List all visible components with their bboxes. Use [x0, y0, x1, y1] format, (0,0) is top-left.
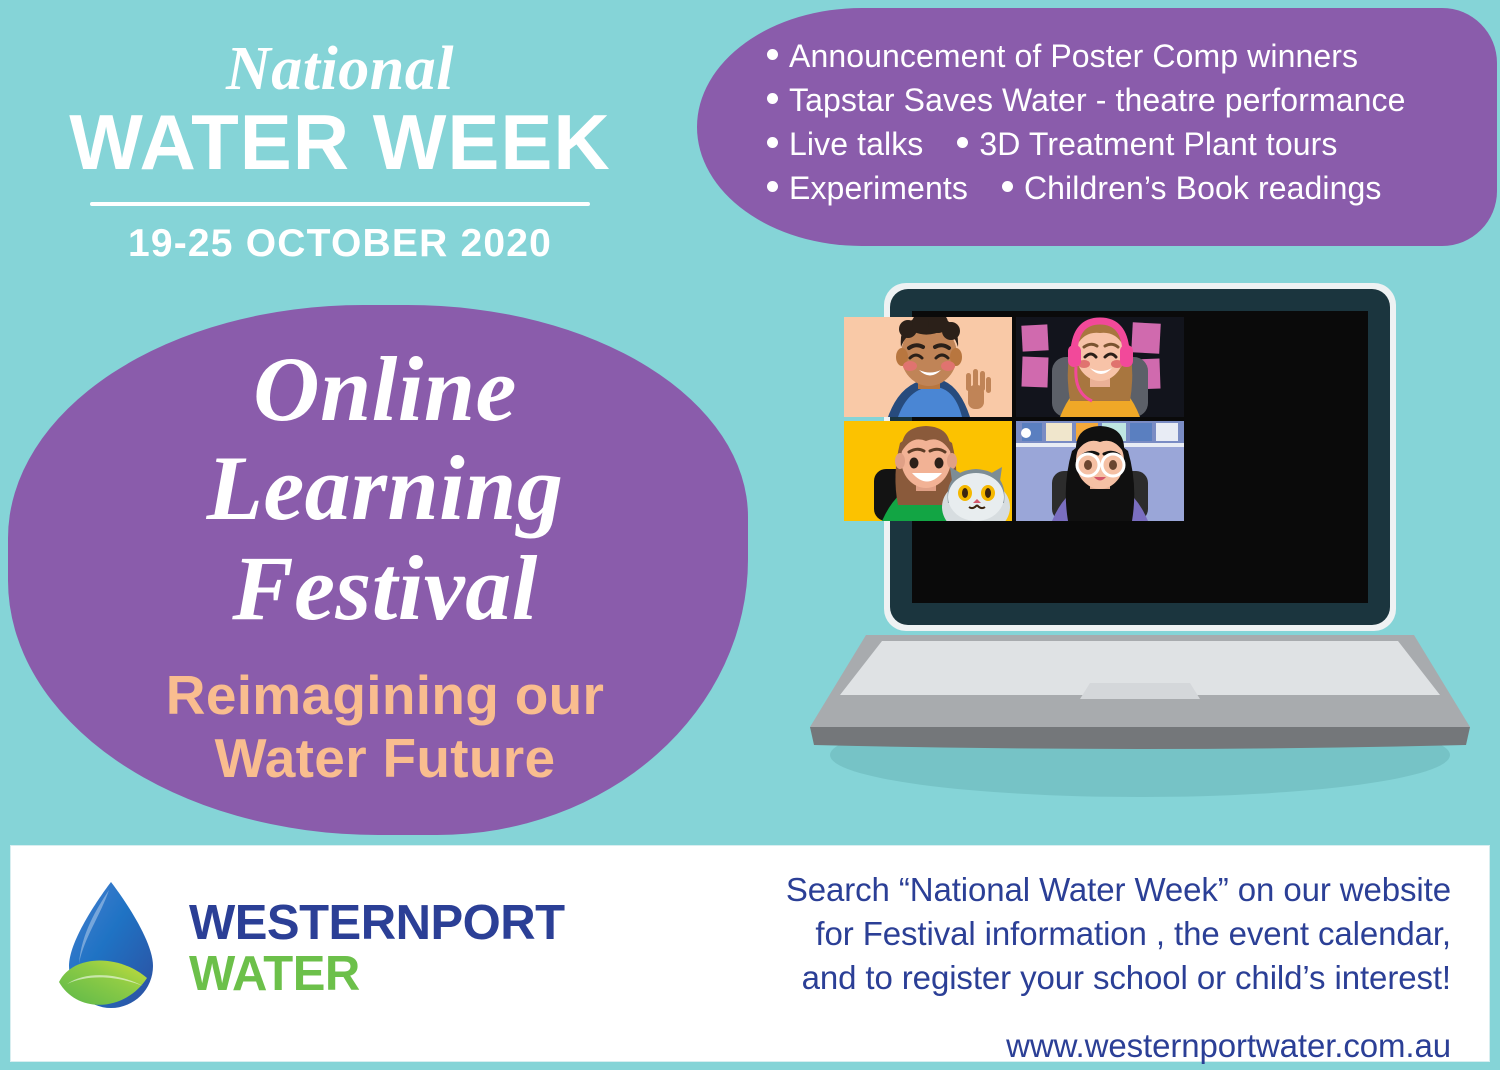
shelf-item: [1046, 423, 1072, 441]
activities-row: Tapstar Saves Water - theatre performanc…: [767, 82, 1487, 119]
headphone-cup-right: [1120, 345, 1133, 367]
activities-row: Experiments Children’s Book readings: [767, 170, 1487, 207]
festival-tagline-line-1: Reimagining our: [70, 664, 700, 727]
brand-name-secondary: WATER: [189, 950, 565, 999]
tile-divider-vertical: [1012, 311, 1016, 603]
festival-title-line-1: Online: [70, 340, 700, 439]
festival-tagline: Reimagining our Water Future: [70, 664, 700, 789]
brand-logo: WESTERNPORT WATER: [51, 874, 565, 1024]
sticky-note: [1021, 324, 1048, 351]
activities-row: Announcement of Poster Comp winners: [767, 38, 1487, 75]
activity-item: Experiments: [767, 170, 968, 207]
activities-list: Announcement of Poster Comp winners Taps…: [767, 38, 1487, 214]
bullet-dot-icon: [767, 181, 778, 192]
laptop-video-call-illustration: [790, 275, 1490, 835]
title-block: National WATER WEEK 19-25 OCTOBER 2020: [0, 10, 680, 266]
activity-item: Children’s Book readings: [1002, 170, 1382, 207]
video-tile-woman-with-cat[interactable]: [844, 421, 1012, 535]
festival-title-line-2: Learning: [70, 439, 700, 538]
footer-copy-line-1: Search “National Water Week” on our webs…: [691, 868, 1451, 912]
bullet-dot-icon: [767, 49, 778, 60]
water-droplet-leaf-icon: [51, 874, 171, 1024]
shelf-item: [1156, 423, 1178, 441]
activity-label: Children’s Book readings: [1024, 170, 1382, 207]
activity-item: 3D Treatment Plant tours: [957, 126, 1337, 163]
page-title-script: National: [0, 38, 680, 100]
footer-copy-line-2: for Festival information , the event cal…: [691, 912, 1451, 956]
laptop-trackpad: [1080, 683, 1200, 699]
footer-copy-line-3: and to register your school or child’s i…: [691, 956, 1451, 1000]
footer-band: WESTERNPORT WATER Search “National Water…: [10, 845, 1490, 1062]
activity-label: Experiments: [789, 170, 968, 207]
website-url[interactable]: www.westernportwater.com.au: [691, 1027, 1451, 1065]
poster-canvas: National WATER WEEK 19-25 OCTOBER 2020 A…: [0, 0, 1500, 1070]
laptop-base-edge: [810, 727, 1470, 749]
activities-row: Live talks 3D Treatment Plant tours: [767, 126, 1487, 163]
activity-item: Announcement of Poster Comp winners: [767, 38, 1358, 75]
title-divider: [90, 202, 590, 206]
activity-item: Live talks: [767, 126, 923, 163]
sticky-note: [1021, 357, 1048, 388]
activities-blob: Announcement of Poster Comp winners Taps…: [697, 8, 1497, 246]
shelf-item: [1130, 423, 1152, 441]
activity-label: Announcement of Poster Comp winners: [789, 38, 1358, 75]
activity-label: 3D Treatment Plant tours: [979, 126, 1337, 163]
brand-name-primary: WESTERNPORT: [189, 899, 565, 948]
headphone-cup-left: [1068, 345, 1081, 367]
activity-item: Tapstar Saves Water - theatre performanc…: [767, 82, 1406, 119]
festival-title-line-3: Festival: [70, 539, 700, 638]
video-tile-girl-headphones[interactable]: [1016, 317, 1184, 417]
activity-label: Live talks: [789, 126, 923, 163]
brand-wordmark: WESTERNPORT WATER: [189, 899, 565, 999]
activity-label: Tapstar Saves Water - theatre performanc…: [789, 82, 1406, 119]
festival-tagline-line-2: Water Future: [70, 727, 700, 790]
sticky-note: [1131, 322, 1161, 353]
video-tile-boy-waving[interactable]: [844, 313, 1012, 417]
bullet-dot-icon: [767, 93, 778, 104]
bullet-dot-icon: [957, 137, 968, 148]
bullet-dot-icon: [1002, 181, 1013, 192]
footer-copy: Search “National Water Week” on our webs…: [691, 868, 1451, 1065]
video-tile-woman-glasses[interactable]: [1016, 421, 1184, 521]
bullet-dot-icon: [767, 137, 778, 148]
festival-text-block: Online Learning Festival Reimagining our…: [70, 340, 700, 789]
event-dates: 19-25 OCTOBER 2020: [0, 222, 680, 266]
page-title-main: WATER WEEK: [0, 102, 680, 184]
tile-divider-horizontal: [912, 417, 1368, 421]
